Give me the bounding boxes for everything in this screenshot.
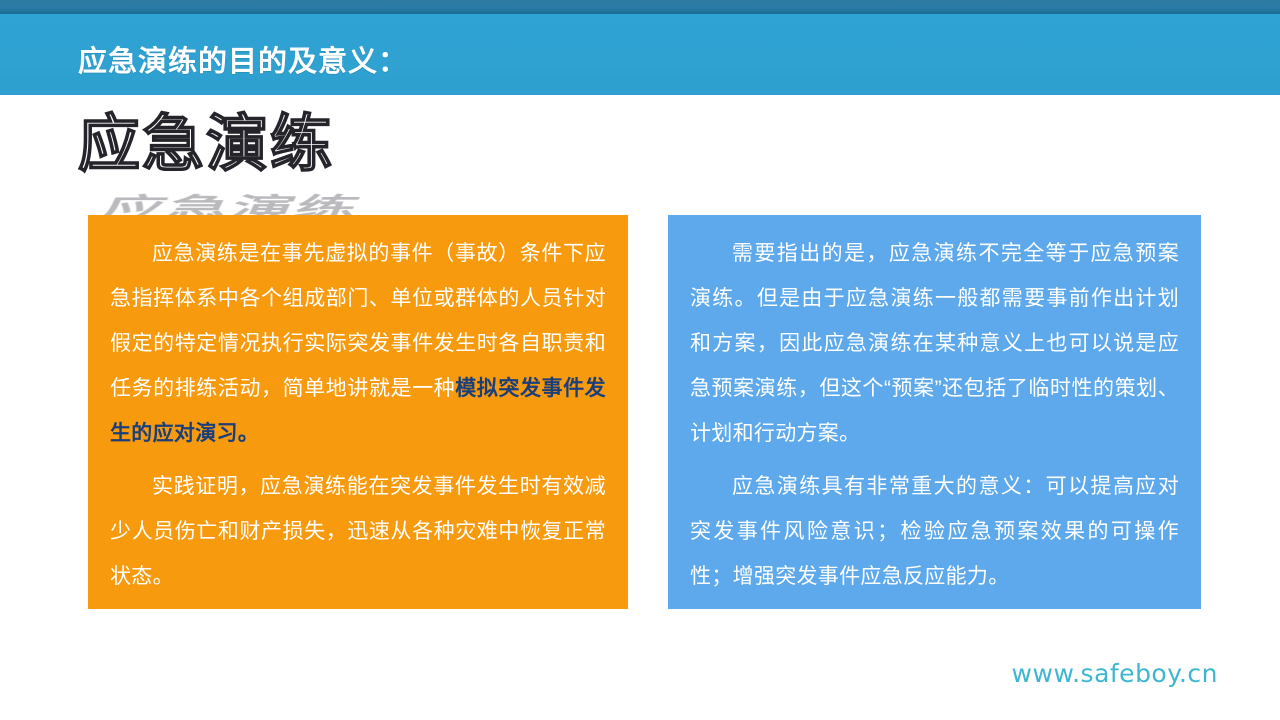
- paragraph-text: 应急演练具有非常重大的意义：可以提高应对突发事件风险意识；检验应急预案效果的可操…: [690, 475, 1179, 588]
- content-panel-left: 应急演练是在事先虚拟的事件（事故）条件下应急指挥体系中各个组成部门、单位或群体的…: [88, 215, 628, 609]
- wordart-main-text: 应急演练: [78, 108, 334, 182]
- panel-paragraph: 应急演练具有非常重大的意义：可以提高应对突发事件风险意识；检验应急预案效果的可操…: [690, 464, 1179, 599]
- paragraph-text: 需要指出的是，应急演练不完全等于应急预案演练。但是由于应急演练一般都需要事前作出…: [690, 242, 1179, 445]
- emphasized-text: 。: [238, 422, 259, 445]
- paragraph-text: 实践证明，应急演练能在突发事件发生时有效减少人员伤亡和财产损失，迅速从各种灾难中…: [110, 475, 606, 588]
- top-accent-strip: [0, 0, 1280, 14]
- panel-paragraph: 需要指出的是，应急演练不完全等于应急预案演练。但是由于应急演练一般都需要事前作出…: [690, 231, 1179, 456]
- panel-paragraph: 应急演练是在事先虚拟的事件（事故）条件下应急指挥体系中各个组成部门、单位或群体的…: [110, 231, 606, 456]
- wordart-heading: 应急演练 应急演练: [78, 108, 498, 194]
- slide-title: 应急演练的目的及意义：: [78, 38, 408, 80]
- panel-paragraph: 实践证明，应急演练能在突发事件发生时有效减少人员伤亡和财产损失，迅速从各种灾难中…: [110, 464, 606, 599]
- slide-header-band: 应急演练的目的及意义：: [0, 14, 1280, 95]
- footer-website-url: www.safeboy.cn: [1012, 659, 1218, 688]
- content-panel-right: 需要指出的是，应急演练不完全等于应急预案演练。但是由于应急演练一般都需要事前作出…: [668, 215, 1201, 609]
